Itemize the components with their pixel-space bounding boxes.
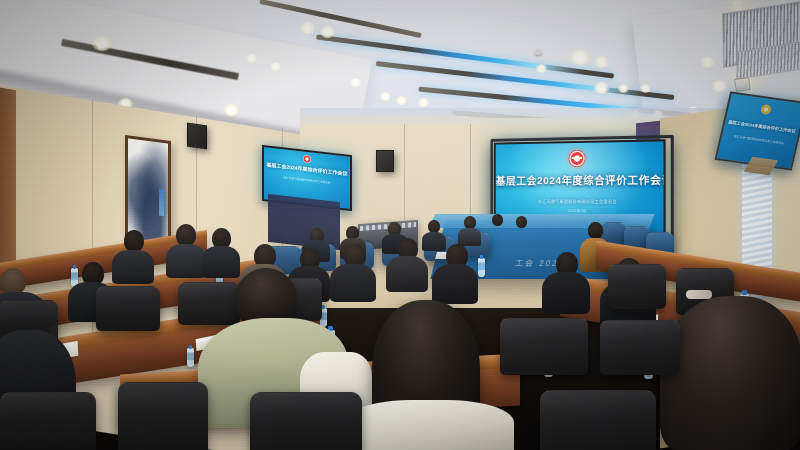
chair-back[interactable] [96, 286, 160, 331]
right-display-subtitle: 宏汇天燃气集团股份有限公司工会委员会 [722, 133, 796, 147]
attendee-head [492, 214, 503, 226]
ceiling-downlight [246, 54, 257, 63]
chair-back[interactable] [608, 264, 666, 309]
ceiling-downlight [224, 104, 239, 116]
painting-accent [159, 188, 164, 216]
water-bottle [187, 348, 194, 367]
hair-tie [686, 290, 712, 299]
attendee-body [166, 244, 206, 278]
ceiling-downlight [320, 26, 335, 38]
ceiling-downlight [640, 84, 651, 93]
wall-seam [92, 100, 93, 370]
attendee-head [176, 224, 196, 246]
attendee-head [588, 222, 603, 239]
chair-back[interactable] [600, 320, 680, 375]
ceiling-downlight [700, 56, 715, 68]
attendee-body-cream [344, 400, 514, 450]
ceiling-downlight [712, 80, 727, 92]
ceiling-downlight [92, 36, 112, 51]
ceiling-downlight [270, 62, 281, 71]
ceiling-downlight [396, 96, 407, 105]
attendee-body [422, 232, 446, 251]
attendee-body [202, 246, 240, 278]
ceiling-downlight [594, 56, 609, 68]
main-screen-organization: 宏汇天燃气集团股份有限公司工会委员会 [496, 199, 664, 205]
chair-back-foreground[interactable] [250, 392, 362, 450]
smoke-detector-icon [534, 50, 542, 55]
wall-speaker-front [376, 150, 394, 172]
chair-back-foreground[interactable] [118, 382, 208, 450]
attendee-head [0, 268, 26, 295]
attendee-body [542, 272, 590, 314]
ceiling-downlight [350, 78, 361, 87]
chair-back[interactable] [500, 318, 588, 375]
water-bottle [478, 258, 485, 277]
main-screen-title: 基层工会2024年度综合评价工作会议 [496, 172, 664, 188]
union-emblem-icon [303, 155, 311, 164]
right-display-title: 基层工会2024年度综合评价工作会议 [725, 119, 800, 135]
emblem-icon [760, 104, 772, 115]
ceiling-downlight [594, 82, 609, 94]
ceiling-downlight [536, 64, 547, 73]
ceiling-downlight [300, 22, 315, 34]
attendee-body [432, 264, 478, 304]
chair-back[interactable] [178, 282, 240, 325]
attendee-body [458, 228, 481, 246]
chair-back-foreground[interactable] [540, 390, 656, 450]
attendee-head-foreground [660, 296, 800, 450]
chinese-landscape-painting [128, 138, 168, 243]
attendee-body [386, 256, 428, 292]
wall-speaker-left [187, 123, 207, 150]
attendee-body [112, 250, 154, 284]
attendee-body [330, 264, 376, 302]
conference-room-photo: 基层工会2024年度综合评价工作会议 宏汇天燃气集团股份有限公司工会委员会 基层… [0, 0, 800, 450]
attendee-head [516, 216, 527, 228]
chair-back-foreground[interactable] [0, 392, 96, 450]
wall-plate [734, 77, 751, 92]
ceiling-downlight [380, 92, 391, 101]
attendee-head [124, 230, 144, 252]
ceiling-downlight [570, 50, 590, 65]
ceiling-downlight [418, 98, 429, 107]
auxiliary-display-stand [268, 194, 340, 250]
ceiling-downlight [618, 84, 629, 93]
